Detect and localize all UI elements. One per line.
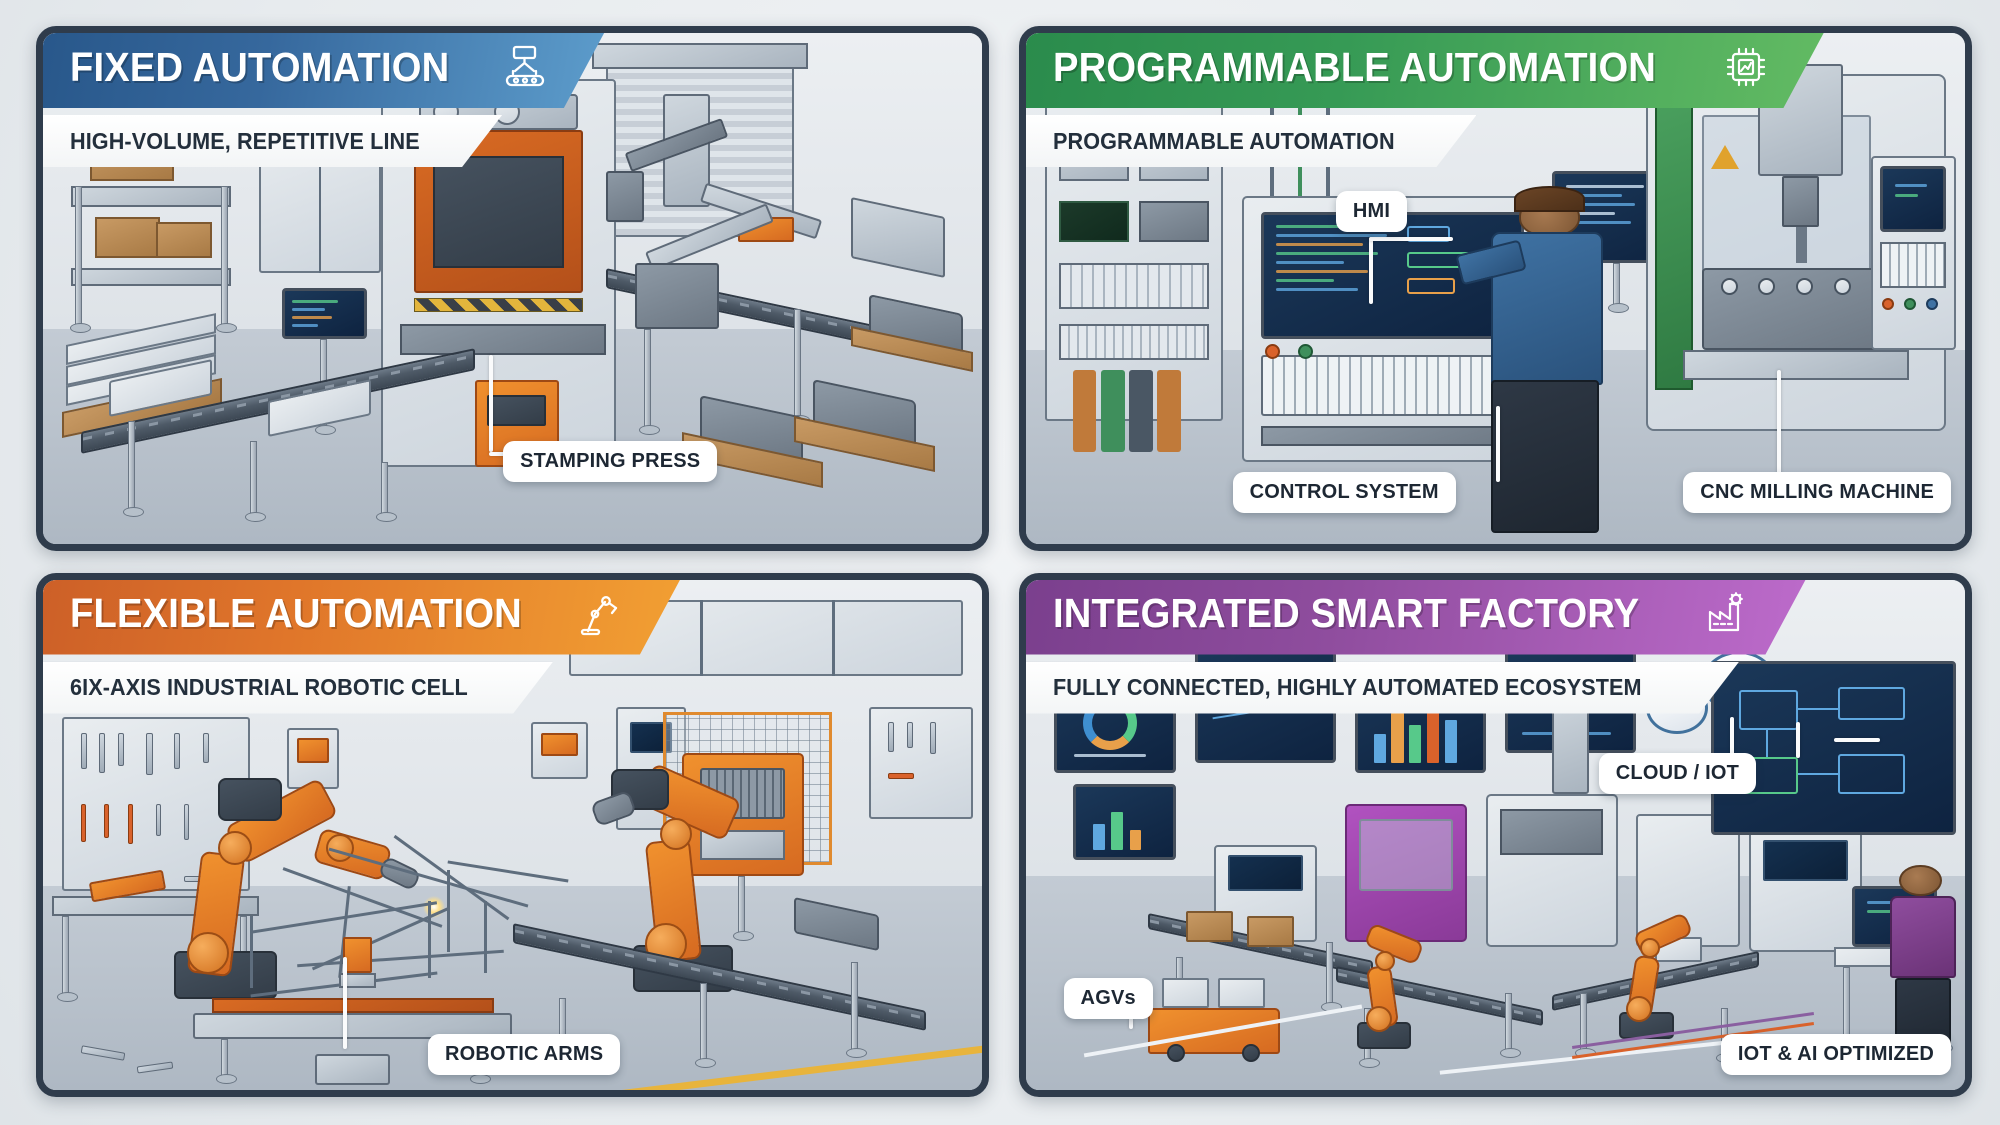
- smart-factory-icon: [1705, 592, 1751, 636]
- callout-cloud-iot[interactable]: CLOUD / IOT: [1599, 753, 1756, 794]
- callout-cnc-milling-machine[interactable]: CNC MILLING MACHINE: [1683, 472, 1951, 513]
- panel-programmable-automation[interactable]: PROGRAMMABLE AUTOMATION PROGRAMMABLE AUT…: [1019, 26, 1972, 551]
- panel-subtitle-plate: 6IX-AXIS INDUSTRIAL ROBOTIC CELL: [36, 662, 553, 714]
- panel-subtitle: FULLY CONNECTED, HIGHLY AUTOMATED ECOSYS…: [1053, 674, 1642, 701]
- scene-flexible-automation: [43, 580, 982, 1091]
- panel-title: FLEXIBLE AUTOMATION: [70, 590, 522, 637]
- automation-panel-grid: FIXED AUTOMATION HIGH-VOLUME, REPETITIVE…: [0, 0, 2000, 1125]
- panel-subtitle: HIGH-VOLUME, REPETITIVE LINE: [70, 128, 420, 155]
- callout-stamping-press[interactable]: STAMPING PRESS: [503, 441, 717, 482]
- scene-programmable-automation: [1026, 33, 1965, 544]
- callout-robotic-arms[interactable]: ROBOTIC ARMS: [428, 1034, 620, 1075]
- operator-figure-2: [1899, 865, 1941, 896]
- panel-title: INTEGRATED SMART FACTORY: [1053, 590, 1639, 637]
- panel-title: PROGRAMMABLE AUTOMATION: [1053, 44, 1656, 91]
- panel-subtitle: 6IX-AXIS INDUSTRIAL ROBOTIC CELL: [70, 674, 468, 701]
- panel-integrated-smart-factory[interactable]: INTEGRATED SMART FACTORY FULLY CONNECTED…: [1019, 573, 1972, 1098]
- panel-subtitle-plate: FULLY CONNECTED, HIGHLY AUTOMATED ECOSYS…: [1019, 662, 1739, 714]
- callout-iot-ai-optimized[interactable]: IOT & AI OPTIMIZED: [1721, 1034, 1951, 1075]
- callout-control-system[interactable]: CONTROL SYSTEM: [1233, 472, 1456, 513]
- panel-subtitle: PROGRAMMABLE AUTOMATION: [1053, 128, 1395, 155]
- conveyor-press-icon: [500, 44, 550, 90]
- callout-agvs[interactable]: AGVs: [1064, 978, 1153, 1019]
- robot-arm-icon: [578, 591, 626, 637]
- panel-header-fixed-automation: FIXED AUTOMATION: [36, 26, 608, 108]
- panel-header-integrated-smart-factory: INTEGRATED SMART FACTORY: [1019, 573, 1809, 655]
- smart-factory-dashboard: [1711, 661, 1955, 835]
- panel-subtitle-plate: PROGRAMMABLE AUTOMATION: [1019, 115, 1476, 167]
- panel-flexible-automation[interactable]: FLEXIBLE AUTOMATION 6IX-AXIS INDUSTRIAL …: [36, 573, 989, 1098]
- panel-header-flexible-automation: FLEXIBLE AUTOMATION: [36, 573, 684, 655]
- panel-header-programmable-automation: PROGRAMMABLE AUTOMATION: [1019, 26, 1827, 108]
- panel-subtitle-plate: HIGH-VOLUME, REPETITIVE LINE: [36, 115, 502, 167]
- scene-integrated-smart-factory: [1026, 580, 1965, 1091]
- panel-fixed-automation[interactable]: FIXED AUTOMATION HIGH-VOLUME, REPETITIVE…: [36, 26, 989, 551]
- leader-stamping-press: [489, 355, 493, 452]
- robot-arm-cell-1: [1345, 927, 1458, 1060]
- callout-hmi[interactable]: HMI: [1336, 191, 1407, 232]
- microchip-icon: [1723, 44, 1769, 90]
- dashboard-screen-5: [1073, 784, 1176, 861]
- panel-title: FIXED AUTOMATION: [70, 44, 449, 91]
